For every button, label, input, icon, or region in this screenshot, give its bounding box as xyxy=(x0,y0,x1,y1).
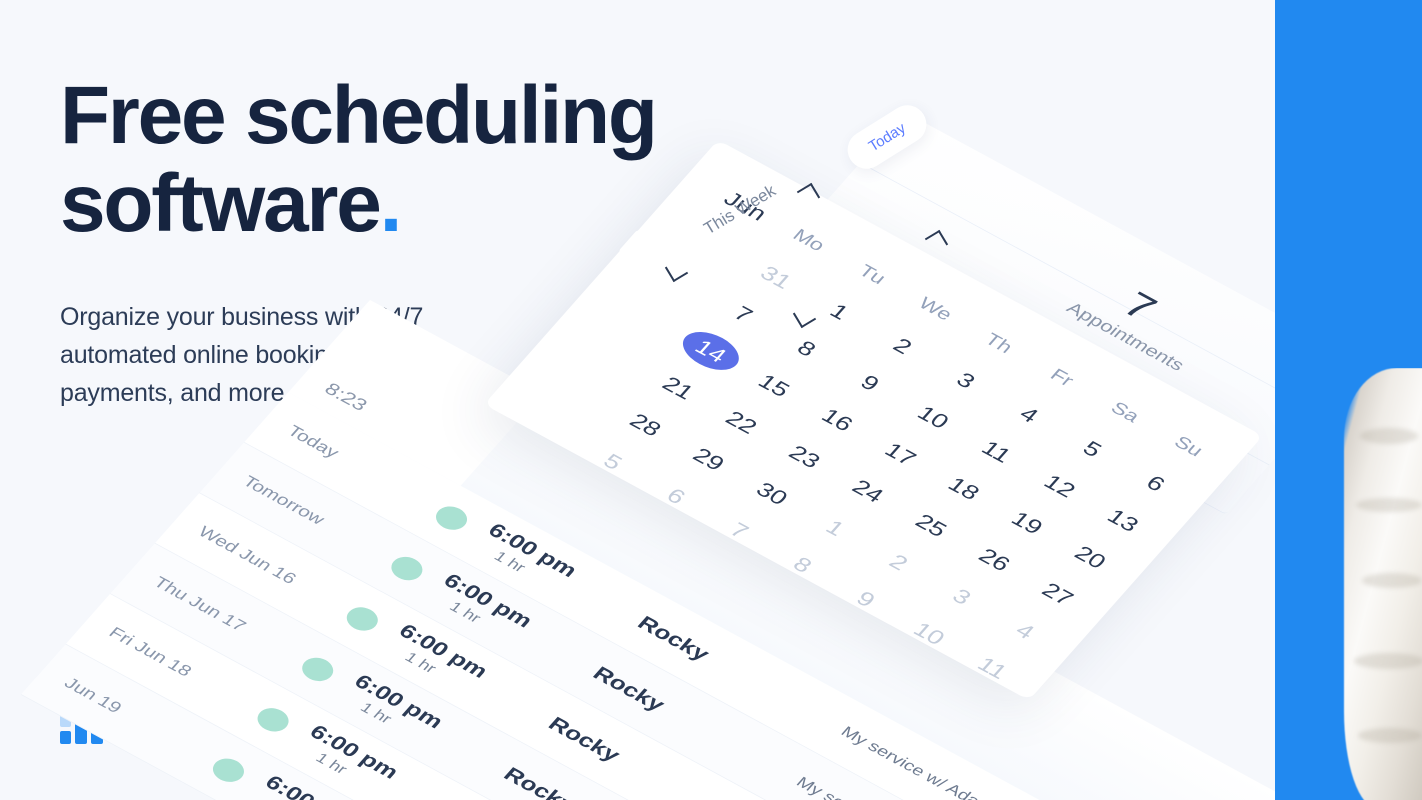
calendar-day[interactable]: 19 xyxy=(979,487,1075,558)
calendar-day[interactable]: 1 xyxy=(787,492,883,563)
calendar-row-spacer xyxy=(632,244,728,315)
appointment-row[interactable]: Tomorrow6:00 pm1 hrRockyMy service w/ Ad… xyxy=(199,443,1281,800)
page-title: Free scheduling software. xyxy=(60,72,780,248)
calendar-day[interactable]: 18 xyxy=(916,453,1012,524)
status-dot-icon xyxy=(430,501,473,534)
appointment-date: Today xyxy=(260,410,445,518)
stats-divider xyxy=(860,162,1318,411)
calendar-day[interactable]: 30 xyxy=(724,458,820,529)
stats-divider xyxy=(812,217,1270,466)
appointment-time-block: 6:00 pm1 hr xyxy=(247,772,431,800)
appointment-time-block: 6:00 pm1 hr xyxy=(426,570,610,686)
appointment-time: 6:00 pm xyxy=(260,772,431,800)
calendar-day[interactable]: 28 xyxy=(598,389,694,460)
brand-name: Setmore xyxy=(121,702,279,749)
calendar-day[interactable]: 8 xyxy=(755,529,851,600)
appointments-count: 7 xyxy=(1114,283,1166,328)
calendar-day[interactable]: 7 xyxy=(696,278,792,349)
appointment-stats-panel: 7 Appointments xyxy=(769,112,1362,514)
calendar-day[interactable]: 24 xyxy=(820,455,916,526)
appointment-client-block: Rocky xyxy=(544,713,761,800)
calendar-day[interactable]: 21 xyxy=(630,352,726,423)
corner-bracket-icon xyxy=(797,183,820,206)
appointment-duration: 1 hr xyxy=(470,536,639,636)
calendar-day[interactable]: 22 xyxy=(694,387,790,458)
person-photo xyxy=(1338,368,1422,800)
appointment-duration: 1 hr xyxy=(426,587,595,687)
calendar-day[interactable]: 6 xyxy=(1108,448,1204,519)
calendar-day[interactable]: 10 xyxy=(885,382,981,453)
corner-bracket-icon xyxy=(925,230,948,253)
calendar-day[interactable]: 26 xyxy=(947,524,1043,595)
appointment-client-name: Rocky xyxy=(544,713,761,800)
appointment-row[interactable]: Fri Jun 186:00 pm1 hrRockyMy service w/ … xyxy=(65,594,1147,800)
calendar-day-header: Su xyxy=(1141,411,1237,482)
appointment-duration: 1 hr xyxy=(337,688,506,788)
calendar-day-header: Sa xyxy=(1077,376,1173,447)
appointment-client-block: Rocky xyxy=(499,763,716,800)
calendar-day[interactable]: 2 xyxy=(851,527,947,598)
calendar-day[interactable]: 13 xyxy=(1075,485,1171,556)
calendar-day[interactable]: 10 xyxy=(881,598,977,669)
appointment-time-block: 6:00 pm1 hr xyxy=(337,671,521,787)
calendar-day[interactable]: 11 xyxy=(945,632,1041,703)
calendar-day[interactable]: 27 xyxy=(1010,558,1106,629)
status-dot-icon xyxy=(386,552,429,585)
calendar-day-header: Fr xyxy=(1014,342,1110,413)
fabric-fold xyxy=(1354,653,1422,669)
calendar-day[interactable]: 11 xyxy=(949,416,1045,487)
corner-bracket-icon xyxy=(665,259,688,282)
brand-logo[interactable]: Setmore xyxy=(60,702,279,749)
appointment-date: Thu Jun 17 xyxy=(126,561,311,669)
appointment-duration: 1 hr xyxy=(292,738,461,800)
calendar-day[interactable]: 15 xyxy=(726,350,822,421)
calendar-day[interactable]: 17 xyxy=(853,418,949,489)
appointment-client-block: Rocky xyxy=(633,612,850,739)
setmore-logo-icon xyxy=(60,704,104,748)
calendar-day-header: Th xyxy=(951,308,1047,379)
calendar-day[interactable]: 3 xyxy=(918,345,1014,416)
calendar-day[interactable]: 16 xyxy=(789,384,885,455)
calendar-day[interactable]: 31 xyxy=(728,242,824,313)
appointment-duration: 1 hr xyxy=(381,637,550,737)
today-button[interactable]: Today xyxy=(840,98,933,176)
calendar-day[interactable]: 4 xyxy=(981,379,1077,450)
calendar-day-header: Tu xyxy=(824,239,920,310)
calendar-day[interactable]: 29 xyxy=(661,423,757,494)
fabric-fold xyxy=(1356,498,1422,512)
headline-line-2: software xyxy=(60,158,380,249)
calendar-day[interactable]: 25 xyxy=(883,490,979,561)
calendar-day[interactable]: 9 xyxy=(818,563,914,634)
appointment-date: Wed Jun 16 xyxy=(171,511,356,619)
calendar-day-header: We xyxy=(887,273,983,344)
calendar-day[interactable]: 4 xyxy=(977,595,1073,666)
appointment-client-name: Rocky xyxy=(499,763,716,800)
appointment-service: My service w/ Adam Samuel, $80.00 xyxy=(837,723,1119,800)
appointment-time: 6:00 pm xyxy=(439,570,610,672)
calendar-row-spacer xyxy=(600,281,696,352)
status-dot-icon xyxy=(341,602,384,635)
calendar-row-spacer xyxy=(567,318,663,389)
status-dot-icon xyxy=(297,653,340,686)
appointment-row[interactable]: Today6:00 pm1 hrRockyMy service w/ Adam … xyxy=(244,392,1326,800)
calendar-day[interactable]: 7 xyxy=(692,495,788,566)
status-dot-icon xyxy=(207,754,250,787)
appointment-time: 6:00 pm xyxy=(305,721,476,800)
calendar-day[interactable]: 23 xyxy=(757,421,853,492)
calendar-day[interactable]: 14 xyxy=(663,315,759,386)
headline-accent-dot: . xyxy=(380,158,401,249)
calendar-day[interactable]: 5 xyxy=(565,426,661,497)
appointment-client-block: Rocky xyxy=(589,662,806,789)
appointment-client-name: Rocky xyxy=(589,662,806,789)
appointment-duration: 1 hr xyxy=(247,789,416,800)
appointment-row[interactable]: Thu Jun 176:00 pm1 hrRockyMy service w/ … xyxy=(110,544,1192,800)
appointment-time: 6:00 pm xyxy=(350,671,521,773)
calendar-day[interactable]: 6 xyxy=(628,460,724,531)
headline-line-1: Free scheduling xyxy=(60,70,656,161)
calendar-row-spacer xyxy=(534,355,630,426)
appointments-count-label: Appointments xyxy=(1062,299,1188,375)
fabric-fold xyxy=(1360,428,1418,444)
appointment-date: Tomorrow xyxy=(215,460,400,568)
fabric-fold xyxy=(1362,573,1422,588)
appointment-time-block: 6:00 pm1 hr xyxy=(292,721,476,800)
fabric-fold xyxy=(1358,728,1422,743)
appointment-time-block: 6:00 pm1 hr xyxy=(381,621,565,737)
appointment-time: 6:00 pm xyxy=(483,520,654,622)
calendar-day[interactable]: 20 xyxy=(1043,521,1139,592)
calendar-day[interactable]: 3 xyxy=(914,561,1010,632)
appointment-time: 6:00 pm xyxy=(394,621,565,723)
corner-bracket-icon xyxy=(793,305,816,328)
calendar-day[interactable]: 2 xyxy=(855,310,951,381)
calendar-day[interactable]: 8 xyxy=(759,313,855,384)
appointment-row[interactable]: Wed Jun 166:00 pm1 hrRockyMy service w/ … xyxy=(155,493,1237,800)
calendar-grid[interactable]: JunMoTuWeThFrSaSu31123456789101112131415… xyxy=(502,170,1237,703)
calendar-day[interactable]: 12 xyxy=(1012,450,1108,521)
page-subtitle: Organize your business with 24/7 automat… xyxy=(60,298,530,412)
appointment-time-block: 6:00 pm1 hr xyxy=(470,520,654,636)
appointment-service: My service w/ Adam Samuel, $80.00 xyxy=(792,774,1074,800)
calendar-day[interactable]: 1 xyxy=(791,276,887,347)
appointment-client-name: Rocky xyxy=(633,612,850,739)
calendar-day[interactable]: 5 xyxy=(1045,413,1141,484)
calendar-day[interactable]: 9 xyxy=(822,347,918,418)
